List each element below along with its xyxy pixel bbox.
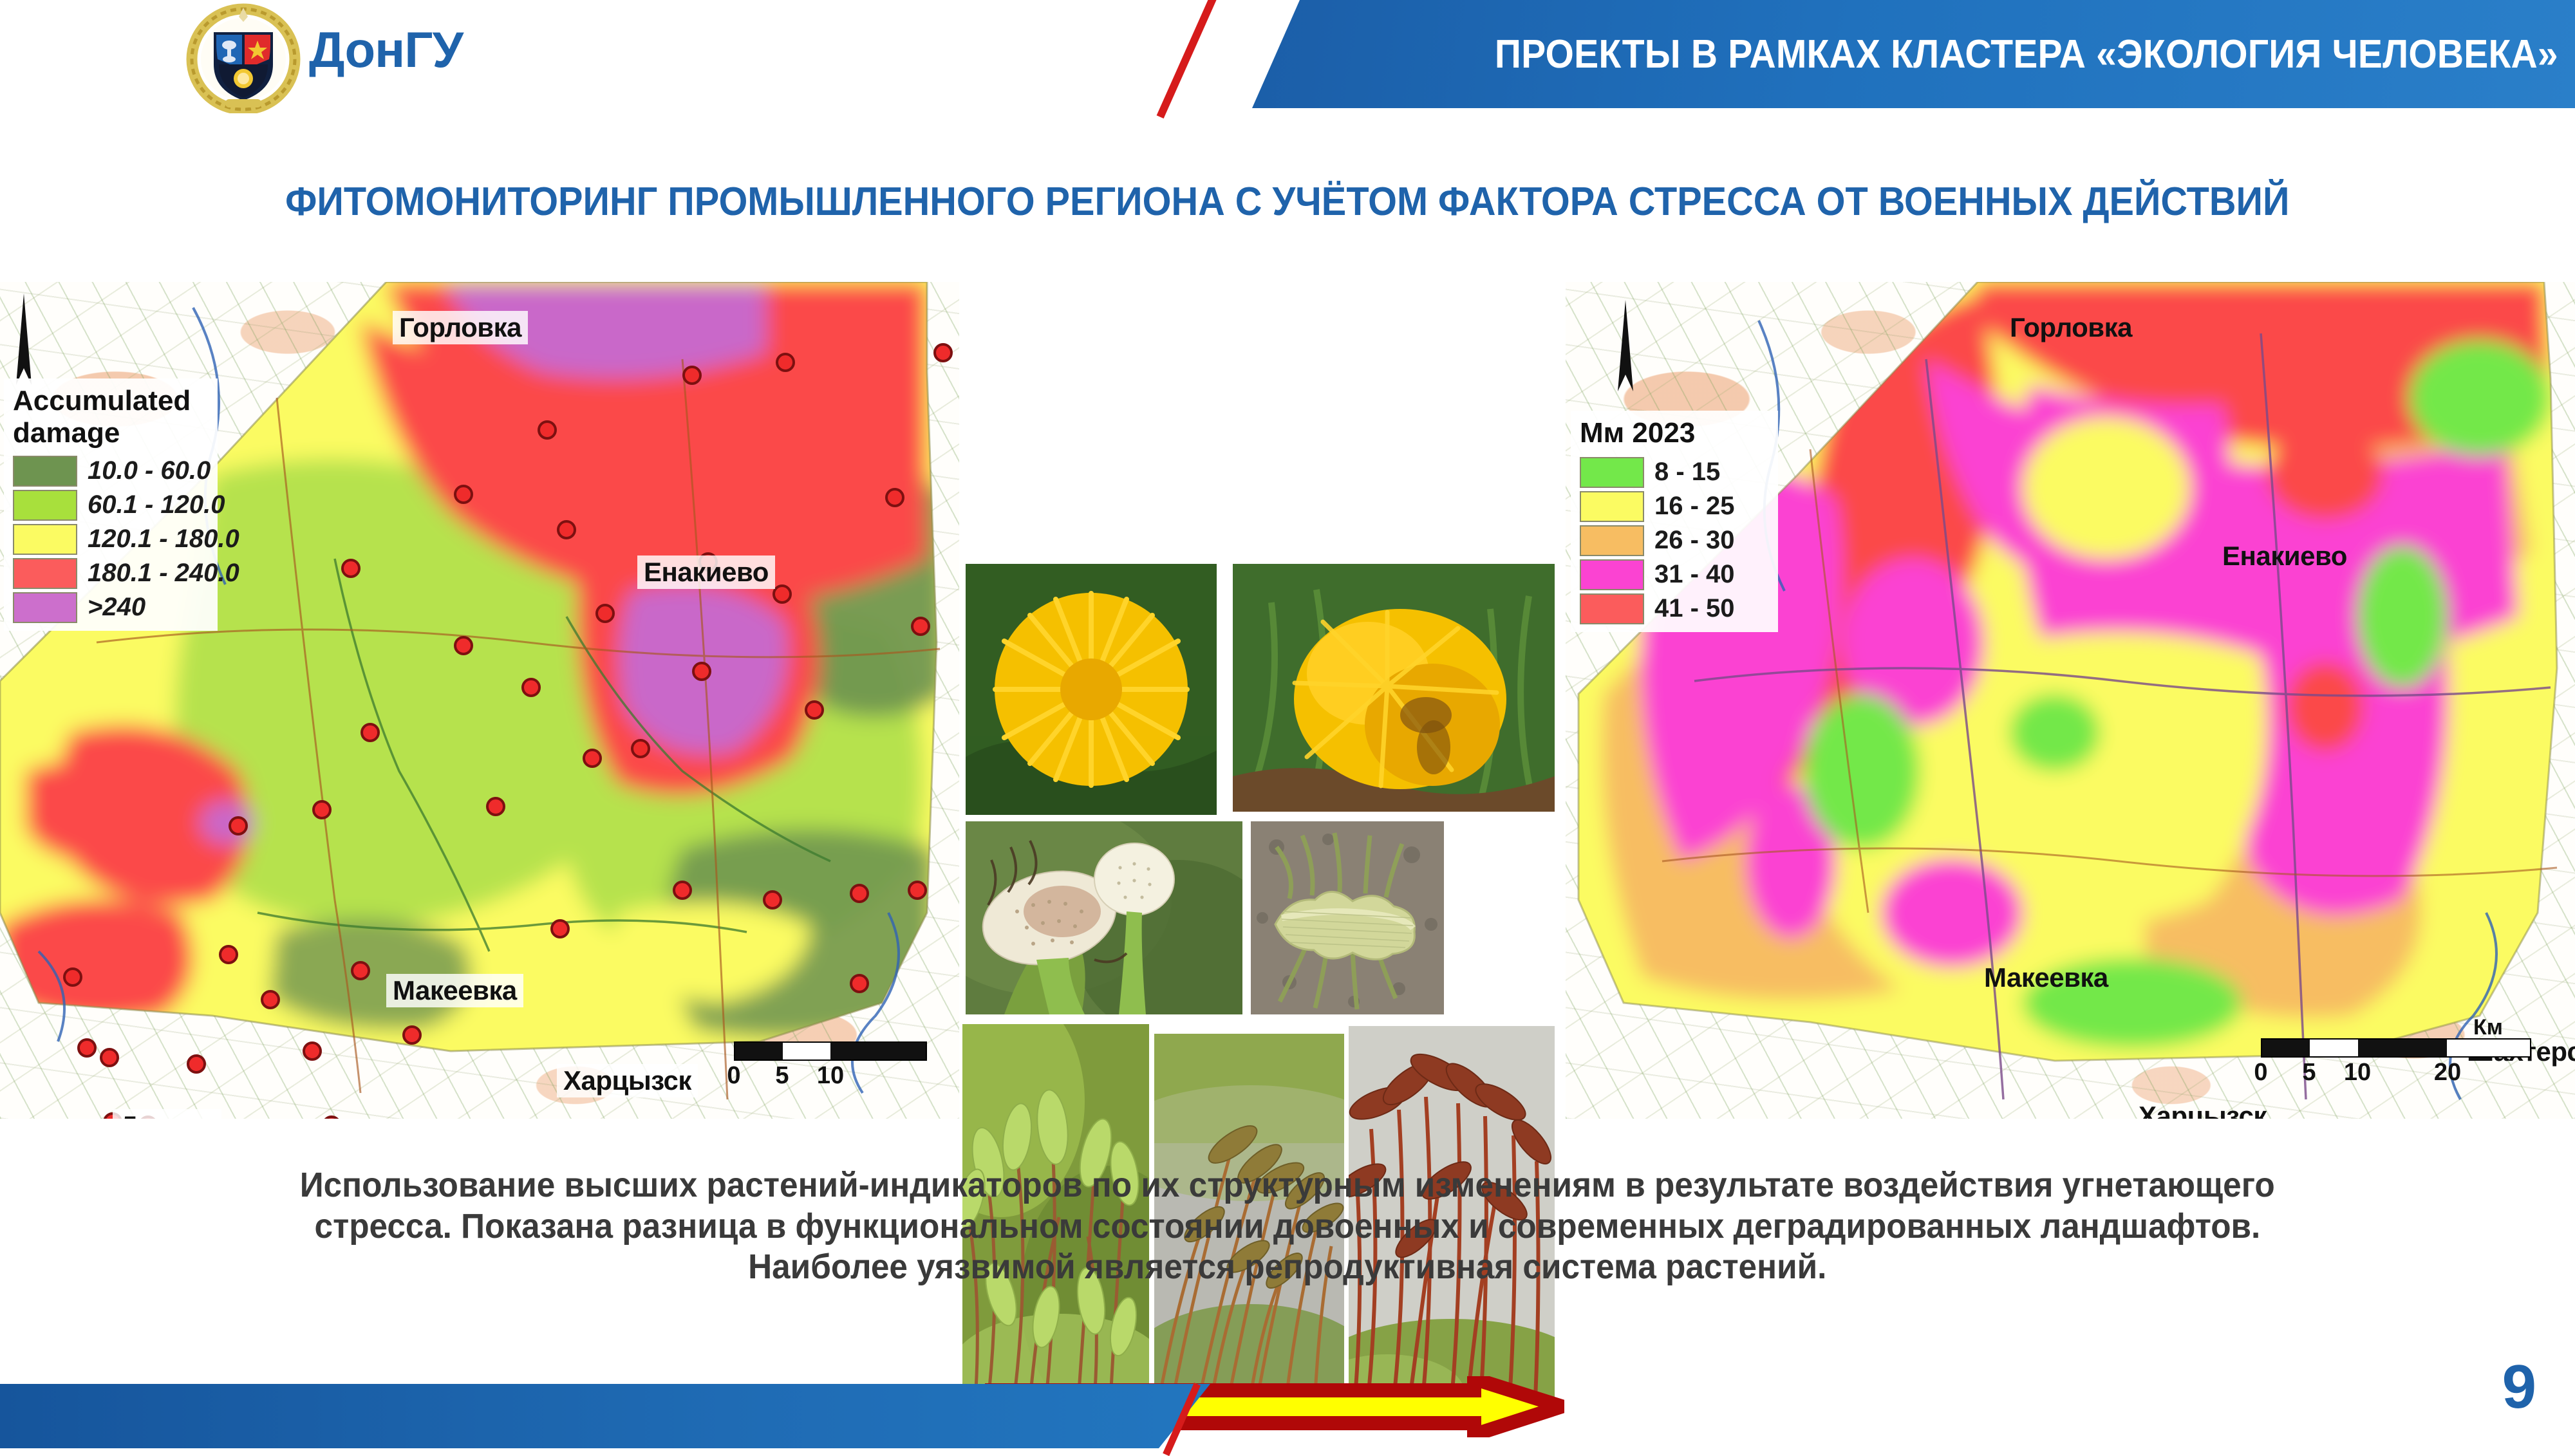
legend-swatch — [13, 592, 77, 623]
scalebar-unit: Км — [2473, 1015, 2503, 1040]
university-logo — [185, 3, 301, 113]
scalebar-tick: 20 — [2434, 1059, 2461, 1087]
scalebar-tick: 0 — [2254, 1059, 2267, 1087]
slide-footer — [0, 1384, 2575, 1448]
legend-label: 31 - 40 — [1654, 560, 1735, 589]
header-banner: ПРОЕКТЫ В РАМКАХ КЛАСТЕРА «ЭКОЛОГИЯ ЧЕЛО… — [1252, 0, 2575, 108]
legend-title-line2: damage — [13, 420, 206, 447]
header-banner-title: ПРОЕКТЫ В РАМКАХ КЛАСТЕРА «ЭКОЛОГИЯ ЧЕЛО… — [1495, 32, 2575, 77]
legend-row: 26 - 30 — [1580, 525, 1766, 556]
header-red-accent-stripe — [1157, 0, 1217, 118]
legend-swatch — [1580, 593, 1644, 624]
scalebar-tick: 5 — [2302, 1059, 2316, 1087]
legend-swatch — [1580, 457, 1644, 488]
city-label: Енакиево — [2216, 539, 2354, 573]
legend-accumulated-damage: Accumulated damage 10.0 - 60.0 60.1 - 12… — [4, 378, 218, 631]
photo-dandelion-receptacle-deformed — [1251, 821, 1444, 1014]
scalebar-right: 0 5 10 20 Км — [2261, 1038, 2531, 1088]
city-label: Макеевка — [386, 974, 523, 1007]
city-label: Харцызск — [557, 1064, 698, 1097]
photo-dandelion-receptacle-fasciated — [966, 821, 1242, 1014]
legend-swatch — [13, 524, 77, 555]
photo-dandelion-deformed-flower — [1233, 564, 1555, 812]
legend-label: 26 - 30 — [1654, 526, 1735, 555]
legend-label: >240 — [88, 593, 145, 622]
legend-row: 60.1 - 120.0 — [13, 490, 206, 521]
legend-mm-2023: Мм 2023 8 - 15 16 - 25 26 - 30 31 - 40 4… — [1571, 411, 1778, 632]
legend-swatch — [1580, 525, 1644, 556]
caption-line-3: Наиболее уязвимой является репродуктивна… — [748, 1247, 1826, 1288]
legend-title: Мм 2023 — [1580, 420, 1766, 447]
legend-label: 41 - 50 — [1654, 594, 1735, 623]
city-label: Горловка — [393, 311, 528, 344]
legend-row: 8 - 15 — [1580, 457, 1766, 488]
legend-label: 16 - 25 — [1654, 492, 1735, 521]
map-accumulated-damage[interactable]: Горловка Енакиево Макеевка Харцызск Доне… — [0, 282, 959, 1119]
caption-line-1: Использование высших растений-индикаторо… — [300, 1165, 2275, 1206]
legend-row: 31 - 40 — [1580, 559, 1766, 590]
map-mm-2023[interactable]: Горловка Енакиево Макеевка Харцызск Доне… — [1566, 282, 2575, 1119]
city-label: Енакиево — [637, 555, 775, 589]
slide-caption: Использование высших растений-индикаторо… — [26, 1165, 2549, 1288]
city-label: Макеевка — [1978, 961, 2115, 994]
footer-blue-band — [0, 1384, 1210, 1448]
legend-row: >240 — [13, 592, 206, 623]
page-title: ФИТОМОНИТОРИНГ ПРОМЫШЛЕННОГО РЕГИОНА С У… — [0, 179, 2575, 225]
north-arrow-icon — [1611, 297, 1640, 394]
legend-label: 120.1 - 180.0 — [88, 525, 239, 554]
content-area: Горловка Енакиево Макеевка Харцызск Доне… — [0, 282, 2575, 1119]
brand-name: ДонГУ — [309, 24, 463, 75]
page-number: 9 — [2502, 1352, 2536, 1423]
don-state-university-crest-icon — [185, 3, 301, 113]
legend-label: 60.1 - 120.0 — [88, 490, 225, 519]
scalebar-tick: 0 — [727, 1062, 740, 1090]
caption-line-2: стресса. Показана разница в функциональн… — [315, 1206, 2261, 1247]
page-title-text: ФИТОМОНИТОРИНГ ПРОМЫШЛЕННОГО РЕГИОНА С У… — [285, 179, 2289, 225]
legend-swatch — [13, 490, 77, 521]
scalebar-tick: 10 — [2344, 1059, 2371, 1087]
legend-swatch — [1580, 559, 1644, 590]
scalebar-tick: 5 — [775, 1062, 789, 1090]
legend-row: 41 - 50 — [1580, 593, 1766, 624]
legend-title-line1: Accumulated — [13, 387, 206, 415]
slide-header: ДонГУ ПРОЕКТЫ В РАМКАХ КЛАСТЕРА «ЭКОЛОГИ… — [0, 0, 2575, 116]
legend-row: 16 - 25 — [1580, 491, 1766, 522]
legend-label: 10.0 - 60.0 — [88, 456, 211, 485]
scalebar-left: 0 5 10 — [734, 1041, 927, 1092]
city-label: Харцызск — [2132, 1099, 2273, 1119]
photo-dandelion-normal-flower — [966, 564, 1217, 815]
city-label: Донецк — [113, 1109, 221, 1119]
legend-row: 120.1 - 180.0 — [13, 524, 206, 555]
legend-swatch — [13, 558, 77, 589]
scalebar-tick: 10 — [817, 1062, 844, 1090]
legend-swatch — [1580, 491, 1644, 522]
city-label: Горловка — [2003, 311, 2139, 344]
legend-row: 10.0 - 60.0 — [13, 456, 206, 487]
north-arrow-icon — [9, 291, 39, 387]
legend-label: 8 - 15 — [1654, 458, 1720, 487]
legend-label: 180.1 - 240.0 — [88, 559, 239, 588]
legend-row: 180.1 - 240.0 — [13, 558, 206, 589]
legend-swatch — [13, 456, 77, 487]
